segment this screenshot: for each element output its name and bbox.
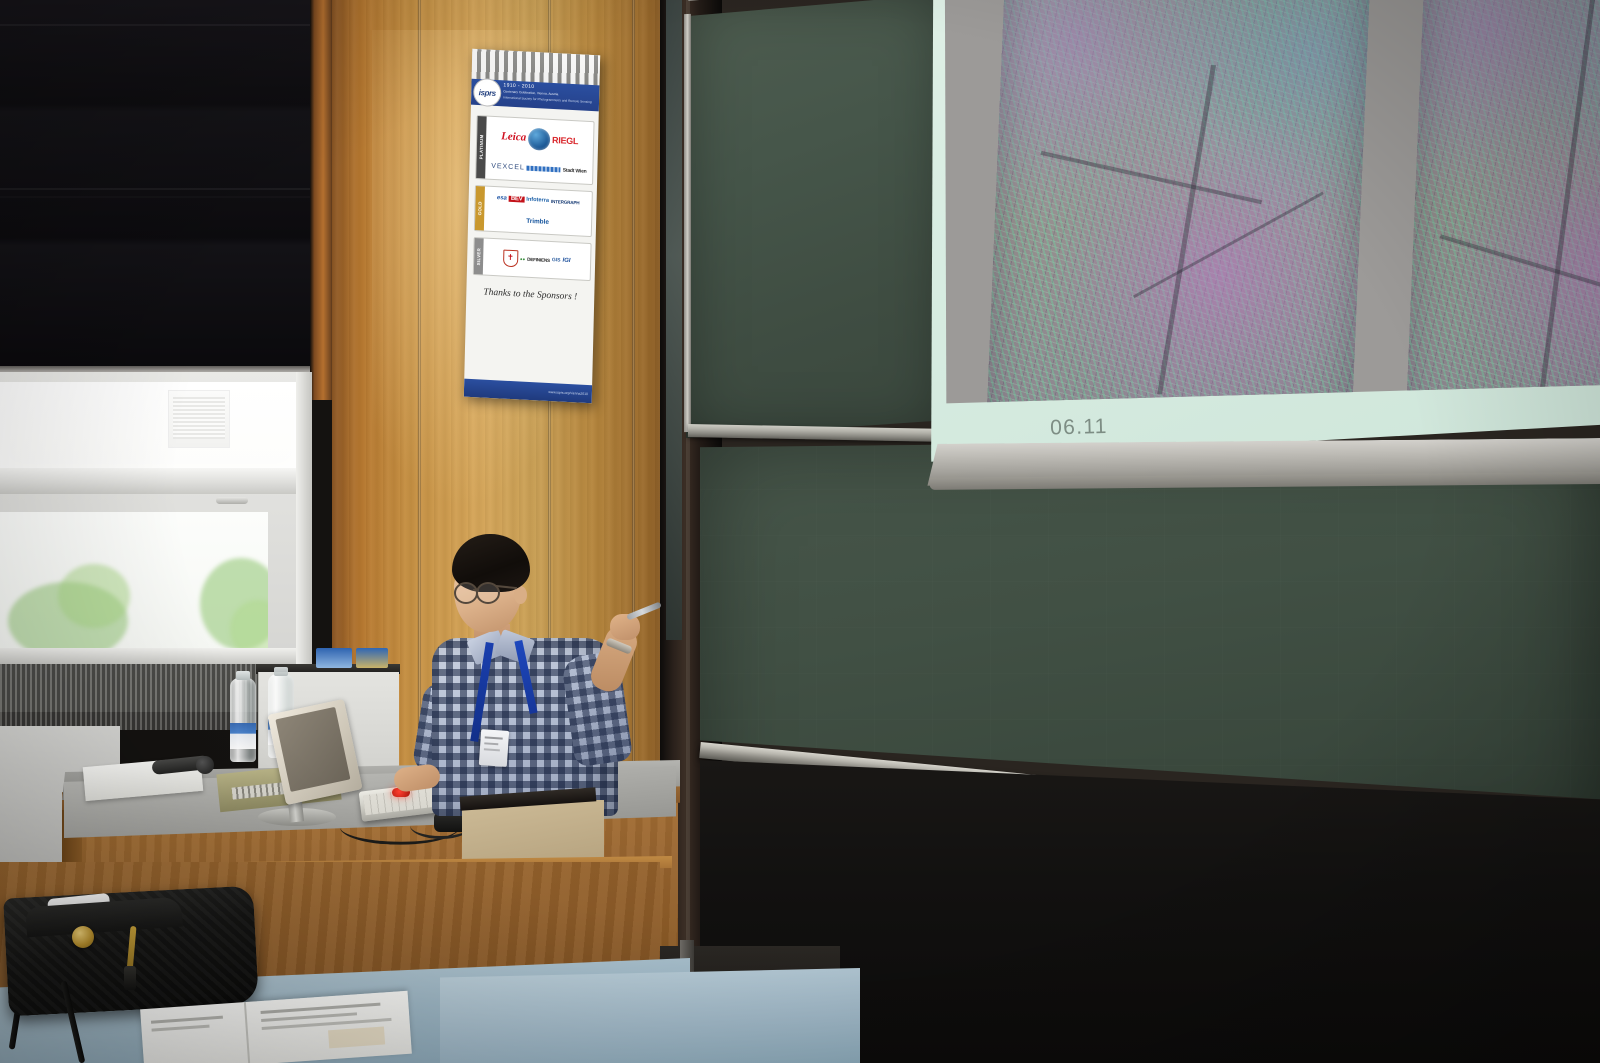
bottle-cap-icon xyxy=(274,667,288,676)
box-blue xyxy=(316,648,352,668)
blackout-blind[interactable] xyxy=(0,0,312,372)
tier-label-platinum: PLATINUM xyxy=(476,116,487,178)
window-handle[interactable] xyxy=(216,497,248,504)
logo-infoterra: Infoterra xyxy=(526,197,549,204)
window-view-building-upper xyxy=(168,390,230,448)
foreground-desk-surface-right[interactable] xyxy=(440,968,860,1063)
microphone-head-icon xyxy=(196,756,214,774)
logo-esa: esa xyxy=(497,195,507,202)
sponsor-tier-platinum: PLATINUM Leica RIEGL VEXCEL Stadt Wien xyxy=(475,115,594,185)
window-lower-pane xyxy=(0,512,268,652)
wood-pillar-trim xyxy=(310,0,334,400)
sar-image-left xyxy=(985,0,1372,403)
window-middle-rail xyxy=(0,468,300,494)
door-glass-pane xyxy=(666,0,682,640)
sar-image-right xyxy=(1405,0,1600,403)
sponsor-poster: isprs 1910 - 2010 Centenary Celebration,… xyxy=(464,49,600,404)
poster-thanks-text: Thanks to the Sponsors ! xyxy=(466,287,594,304)
bottle-cap-icon xyxy=(236,671,250,680)
window-upper-pane xyxy=(0,382,300,470)
logo-leica: Leica xyxy=(501,132,526,144)
logo-vienna-crest-icon: ✝ xyxy=(503,249,518,267)
presenter-right-hand xyxy=(610,614,640,640)
window-sill xyxy=(0,648,300,664)
slide-caption: 06.11 xyxy=(1050,415,1108,441)
window-right-frame xyxy=(296,372,312,702)
chalkboard-upper-chalk-tray xyxy=(688,424,944,442)
logo-stadt-wien: Stadt Wien xyxy=(563,167,587,174)
isprs-logo-text: isprs xyxy=(479,88,496,98)
logo-gis: GIS xyxy=(552,257,561,263)
box-yellow-blue xyxy=(356,648,388,668)
tier-label-silver: SILVER xyxy=(474,238,484,274)
chalkboard-upper xyxy=(686,0,944,438)
handbag-zipper-pull-icon[interactable] xyxy=(124,966,136,990)
chalkboard-upper-left-frame xyxy=(684,14,691,432)
logo-igi: IGI xyxy=(562,258,570,264)
water-bottle-1[interactable] xyxy=(230,678,256,762)
sponsor-tier-silver: SILVER ✝ ●● DEFINIENS GIS IGI xyxy=(473,237,592,281)
poster-footer-url: www.isprs.org/vienna2010 xyxy=(548,390,592,396)
slide-image-area xyxy=(945,0,1600,403)
handbag-gold-clasp-icon[interactable] xyxy=(72,926,94,948)
logo-vexcel: VEXCEL xyxy=(491,163,525,172)
eyeglasses-left-lens-icon xyxy=(454,582,478,604)
logo-gim-globe-icon xyxy=(528,127,551,150)
tier-label-gold: GOLD xyxy=(475,186,485,230)
logo-trimble: Trimble xyxy=(526,217,549,225)
eyeglasses-bridge xyxy=(473,589,479,591)
projection-screen-assembly: 06.11 xyxy=(918,0,1600,544)
logo-intergraph: INTERGRAPH xyxy=(551,199,579,205)
logo-green-small: ●● xyxy=(520,256,525,261)
logo-definiens: DEFINIENS xyxy=(527,256,550,262)
projection-screen: 06.11 xyxy=(918,0,1600,462)
presenter-name-badge xyxy=(479,729,509,767)
sponsor-tier-gold: GOLD esa BEV Infoterra INTERGRAPH Trimbl… xyxy=(474,185,593,237)
logo-riegl: RIEGL xyxy=(552,135,578,146)
logo-bev: BEV xyxy=(509,196,525,203)
vexcel-color-bar xyxy=(527,166,561,173)
presenter xyxy=(418,534,648,834)
bottle-label xyxy=(230,723,256,749)
lecture-hall-photo: 06.11 isprs 1910 - 2010 Centenary Celebr… xyxy=(0,0,1600,1063)
